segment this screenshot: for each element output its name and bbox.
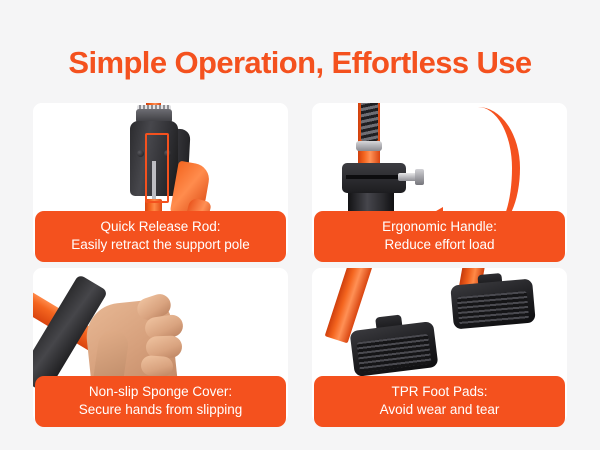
finger-4-shape <box>140 355 173 377</box>
highlight-box-outline <box>145 133 169 203</box>
caption-subtitle: Reduce effort load <box>320 236 559 254</box>
bolt-head-shape <box>415 169 424 185</box>
caption-subtitle: Secure hands from slipping <box>41 401 280 419</box>
page-title: Simple Operation, Effortless Use <box>0 44 600 82</box>
infographic-page: Simple Operation, Effortless Use <box>0 0 600 450</box>
panel-caption: Non-slip Sponge Cover: Secure hands from… <box>35 376 286 427</box>
caption-title: Quick Release Rod: <box>41 218 280 236</box>
caption-subtitle: Easily retract the support pole <box>41 236 280 254</box>
caption-title: Non-slip Sponge Cover: <box>41 383 280 401</box>
feature-grid: Quick Release Rod: Easily retract the su… <box>33 103 567 423</box>
clamp-gap-shape <box>346 175 402 179</box>
caption-title: Ergonomic Handle: <box>320 218 559 236</box>
panel-caption: TPR Foot Pads: Avoid wear and tear <box>314 376 565 427</box>
caption-subtitle: Avoid wear and tear <box>320 401 559 419</box>
metal-collar-shape <box>356 141 382 151</box>
screw-left-shape <box>137 150 144 157</box>
panel-caption: Ergonomic Handle: Reduce effort load <box>314 211 565 262</box>
feature-panel-non-slip-sponge-cover[interactable]: Non-slip Sponge Cover: Secure hands from… <box>33 268 288 423</box>
feature-panel-tpr-foot-pads[interactable]: VEVO TPR Foot Pads: Avoid wear and tear <box>312 268 567 423</box>
feature-panel-ergonomic-handle[interactable]: Ergonomic Handle: Reduce effort load <box>312 103 567 258</box>
panel-caption: Quick Release Rod: Easily retract the su… <box>35 211 286 262</box>
spring-coil-shape <box>361 103 378 141</box>
caption-title: TPR Foot Pads: <box>320 383 559 401</box>
feature-panel-quick-release-rod[interactable]: Quick Release Rod: Easily retract the su… <box>33 103 288 258</box>
